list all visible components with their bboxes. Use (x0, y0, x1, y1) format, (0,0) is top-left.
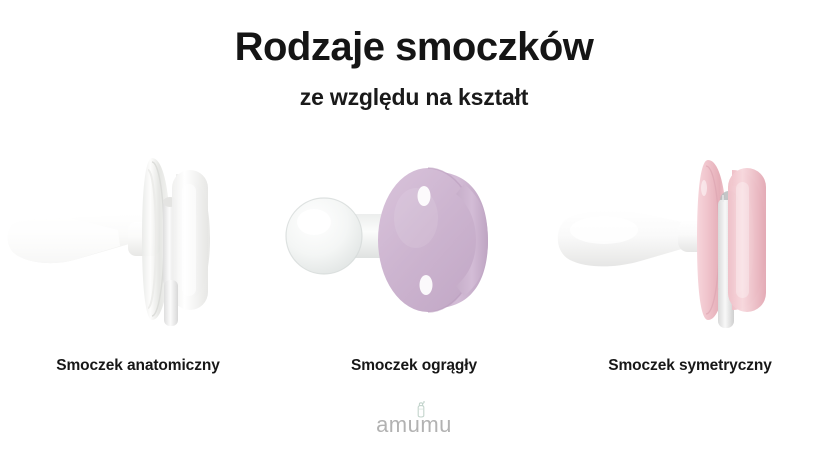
pacifier-anatomical-svg (0, 140, 276, 340)
pacifier-anatomical-illustration (0, 140, 276, 340)
pacifier-round-illustration (276, 140, 552, 340)
page-title: Rodzaje smoczków (0, 0, 828, 72)
list-item-symmetric: Smoczek symetryczny (552, 140, 828, 375)
page-subtitle: ze względu na kształt (0, 72, 828, 111)
logo-wrap: amumu (376, 414, 452, 436)
pacifier-round-svg (276, 140, 552, 340)
list-item-round: Smoczek ogrągły (276, 140, 552, 375)
infographic-canvas: Rodzaje smoczków ze względu na kształt (0, 0, 828, 466)
baby-bottle-icon (413, 401, 429, 418)
list-item-label: Smoczek anatomiczny (56, 357, 220, 375)
list-item-label: Smoczek symetryczny (608, 357, 772, 375)
pacifier-symmetric-illustration (552, 140, 828, 340)
pacifier-symmetric-svg (552, 140, 828, 340)
pacifier-type-list: Smoczek anatomiczny (0, 140, 828, 375)
brand-logo: amumu (0, 414, 828, 437)
list-item-label: Smoczek ogrągły (351, 357, 477, 375)
list-item-anatomical: Smoczek anatomiczny (0, 140, 276, 375)
header: Rodzaje smoczków ze względu na kształt (0, 0, 828, 111)
